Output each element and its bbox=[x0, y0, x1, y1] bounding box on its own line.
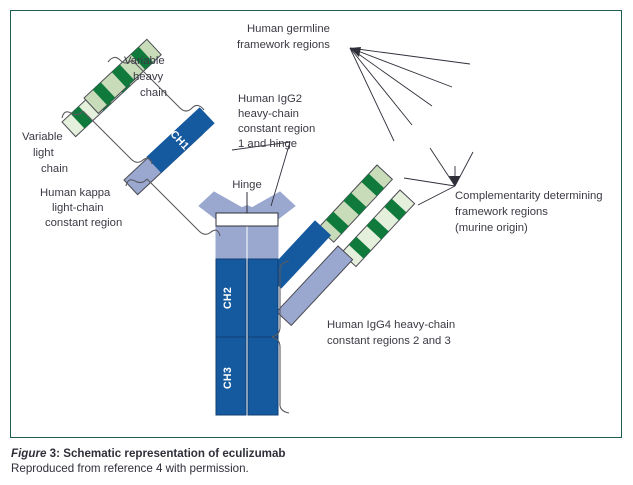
svg-text:chain: chain bbox=[41, 163, 68, 175]
domain-label-ch3: CH3 bbox=[222, 367, 234, 389]
svg-text:chain: chain bbox=[140, 87, 167, 99]
svg-text:Complementarity determining: Complementarity determining bbox=[455, 190, 603, 202]
right-ch2-domain bbox=[248, 259, 278, 337]
svg-text:framework regions: framework regions bbox=[237, 39, 330, 51]
label-human-igg2-hinge: Human IgG2 heavy-chain constant region 1… bbox=[238, 93, 315, 150]
svg-text:1 and hinge: 1 and hinge bbox=[238, 138, 297, 150]
caption-title: Schematic representation of eculizumab bbox=[63, 447, 285, 460]
svg-text:(murine origin): (murine origin) bbox=[455, 222, 528, 234]
figure-container: CL CH1 bbox=[0, 0, 633, 485]
leader-germline-framework bbox=[350, 48, 470, 141]
svg-text:Human germline: Human germline bbox=[247, 23, 330, 35]
label-cdr-murine-origin: Complementarity determining framework re… bbox=[455, 190, 603, 234]
label-human-kappa-constant: Human kappa light-chain constant region bbox=[40, 187, 122, 229]
svg-text:Human IgG4 heavy-chain: Human IgG4 heavy-chain bbox=[327, 319, 455, 331]
label-variable-light-chain: Variable light chain bbox=[22, 131, 68, 175]
svg-text:constant region: constant region bbox=[45, 217, 122, 229]
svg-text:framework regions: framework regions bbox=[455, 206, 548, 218]
svg-text:heavy: heavy bbox=[133, 71, 163, 83]
svg-text:light: light bbox=[33, 147, 55, 159]
label-human-germline-framework: Human germline framework regions bbox=[237, 23, 330, 51]
svg-text:constant region: constant region bbox=[238, 123, 315, 135]
svg-text:Human kappa: Human kappa bbox=[40, 187, 111, 199]
right-ch3-domain bbox=[248, 337, 278, 415]
label-human-igg4-constant: Human IgG4 heavy-chain constant regions … bbox=[327, 319, 455, 347]
figure-caption: Figure 3: Schematic representation of ec… bbox=[11, 447, 611, 476]
label-hinge: Hinge bbox=[232, 179, 262, 191]
svg-text:heavy-chain: heavy-chain bbox=[238, 108, 299, 120]
caption-lead: Figure bbox=[11, 447, 46, 460]
hinge-gap bbox=[216, 213, 278, 226]
domain-label-ch2: CH2 bbox=[222, 287, 234, 309]
antibody-schematic: CL CH1 bbox=[0, 0, 633, 485]
svg-text:light-chain: light-chain bbox=[52, 202, 104, 214]
svg-text:Human IgG2: Human IgG2 bbox=[238, 93, 302, 105]
caption-subtitle: Reproduced from reference 4 with permiss… bbox=[11, 462, 611, 477]
svg-text:constant regions 2 and 3: constant regions 2 and 3 bbox=[327, 335, 451, 347]
svg-text:Variable: Variable bbox=[124, 55, 165, 67]
svg-text:Variable: Variable bbox=[22, 131, 63, 143]
